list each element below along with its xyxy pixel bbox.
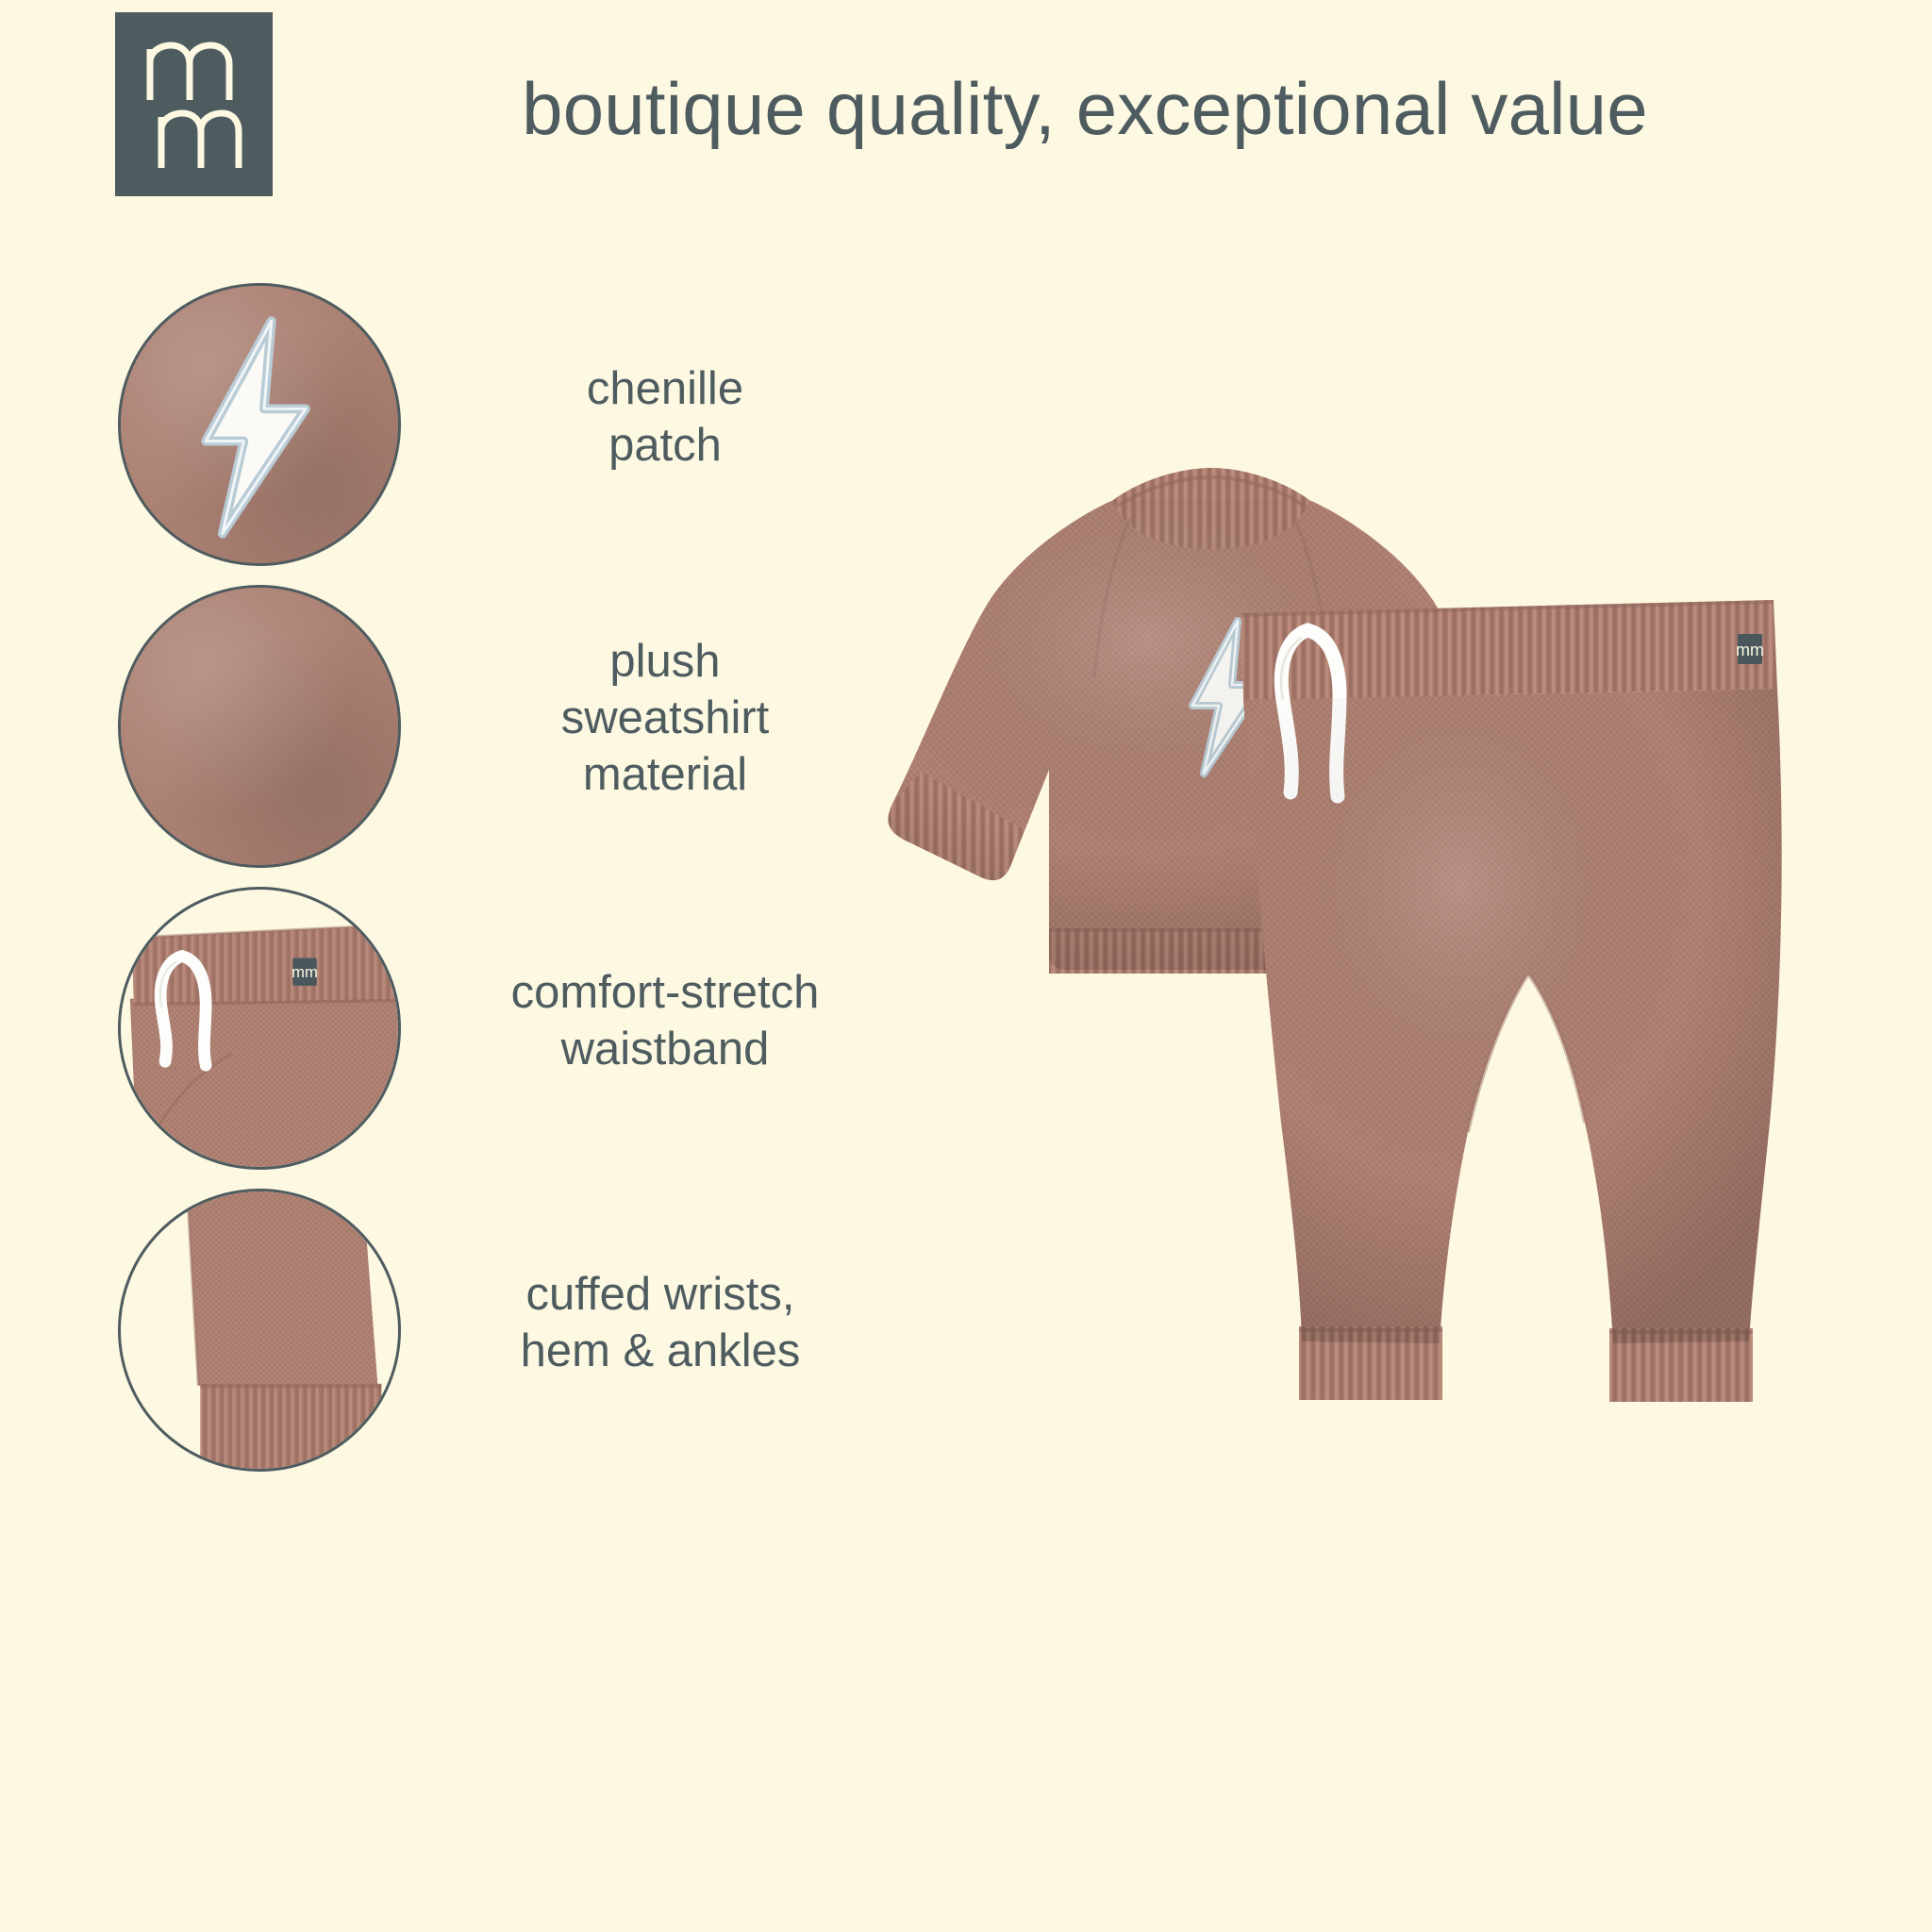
feature-label-line: chenille [443,361,887,418]
feature-label-plush-material: plush sweatshirt material [443,634,887,803]
header-banner: boutique quality, exceptional value [0,0,1932,217]
feature-label-line: material [443,747,887,804]
feature-row-cuffed-edges: cuffed wrists, hem & ankles [0,1189,943,1472]
mm-monogram-icon [142,34,246,175]
feature-label-line: patch [443,418,887,475]
lightning-bolt-patch-icon [121,286,398,563]
feature-thumb-cuffed-edges [118,1189,401,1472]
product-photo: mm [830,377,1924,1698]
feature-label-chenille-patch: chenille patch [443,361,887,475]
brand-logo [115,12,273,196]
svg-text:mm: mm [1736,641,1764,659]
feature-thumb-plush-material [118,585,401,868]
feature-label-line: sweatshirt [443,691,887,747]
svg-text:mm: mm [291,963,318,981]
jogger-brand-tag: mm [1736,634,1764,664]
feature-row-plush-material: plush sweatshirt material [0,585,943,868]
feature-thumb-chenille-patch [118,283,401,566]
joggers-graphic: mm [1241,600,1782,1402]
feature-label-line: plush [443,634,887,691]
ribbed-cuff-icon [121,1191,398,1469]
page-title: boutique quality, exceptional value [302,47,1868,170]
feature-row-comfort-waistband: mm comfort-stretch waistband [0,887,943,1170]
feature-row-chenille-patch: chenille patch [0,283,943,566]
fabric-texture [121,588,398,865]
